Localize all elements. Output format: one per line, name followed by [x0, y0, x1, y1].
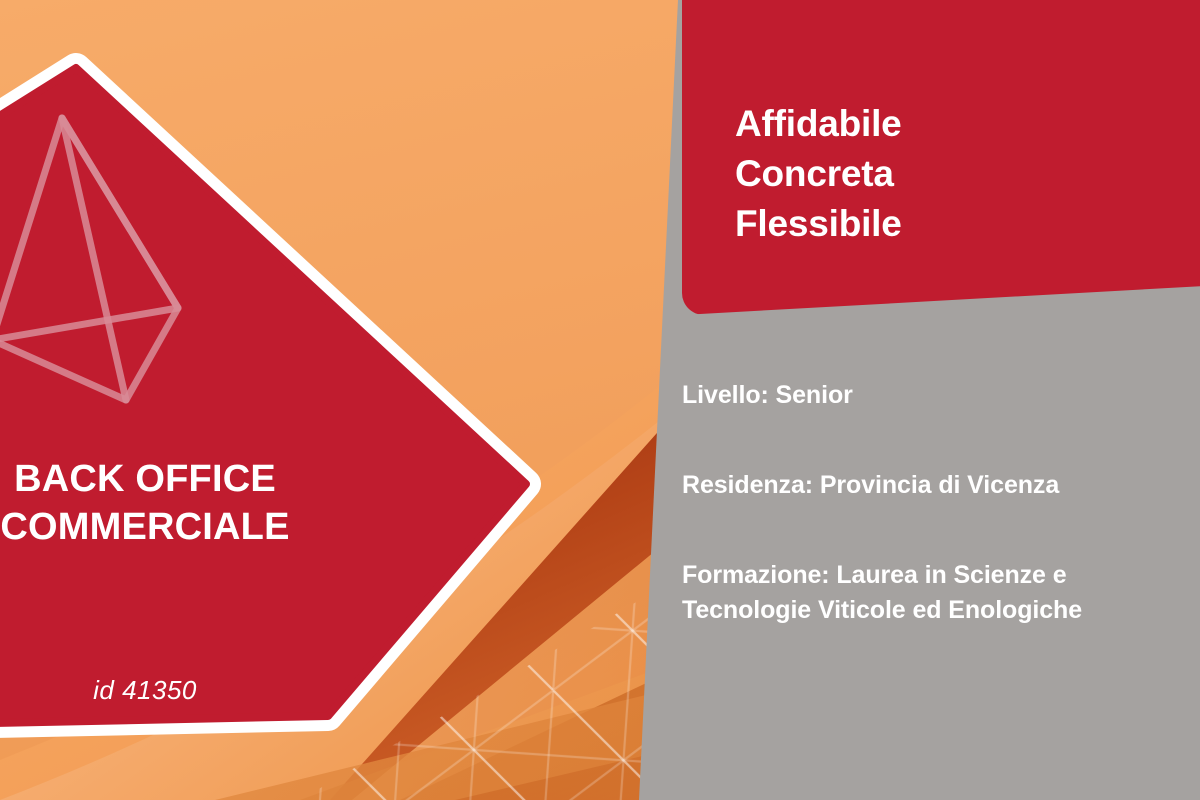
tagline-block: Affidabile Concreta Flessibile: [735, 99, 1165, 249]
badge-shape: [0, 40, 550, 740]
job-title-badge: BACK OFFICE COMMERCIALE id 41350: [0, 40, 540, 730]
job-id: id 41350: [0, 675, 360, 706]
job-title: BACK OFFICE COMMERCIALE: [0, 455, 360, 551]
detail-education-line-2: Tecnologie Viticole ed Enologiche: [682, 593, 1187, 628]
detail-education-line-1: Formazione: Laurea in Scienze e: [682, 558, 1187, 593]
detail-education: Formazione: Laurea in Scienze e Tecnolog…: [682, 558, 1187, 628]
detail-residence: Residenza: Provincia di Vicenza: [682, 468, 1187, 503]
job-advert-card: Affidabile Concreta Flessibile Livello: …: [0, 0, 1200, 800]
job-title-line-1: BACK OFFICE: [0, 455, 360, 503]
detail-level: Livello: Senior: [682, 378, 1187, 413]
tagline-line-3: Flessibile: [735, 199, 1165, 249]
candidate-details: Livello: Senior Residenza: Provincia di …: [682, 378, 1187, 628]
tagline-line-2: Concreta: [735, 149, 1165, 199]
tagline-line-1: Affidabile: [735, 99, 1165, 149]
job-title-line-2: COMMERCIALE: [0, 503, 360, 551]
